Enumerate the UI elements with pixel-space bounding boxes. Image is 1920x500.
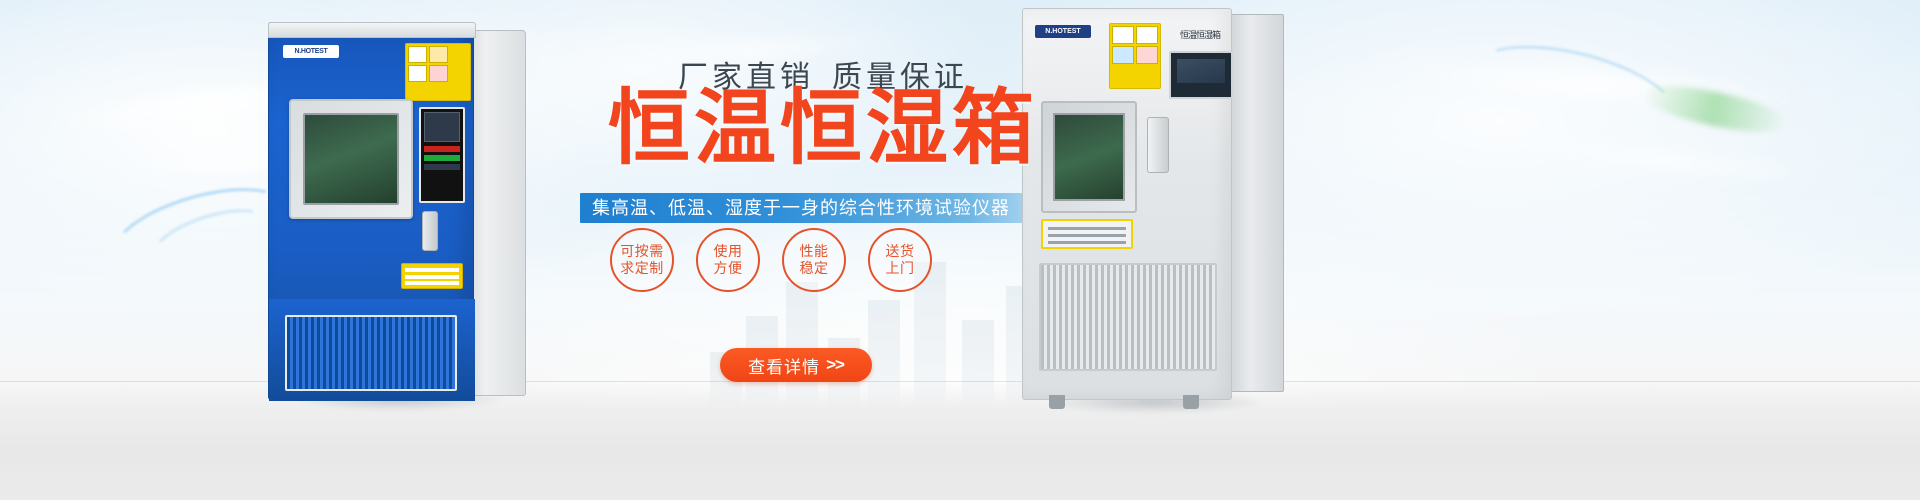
view-details-label: 查看详情 — [748, 353, 820, 378]
controller-screen — [1169, 51, 1233, 99]
promo-banner: N.HOTEST — [0, 0, 1920, 500]
feature-circle-list: 可按需 求定制 使用 方便 性能 稳定 送货 上门 — [610, 228, 932, 292]
feature-circle-2-line1: 使用 — [714, 243, 743, 260]
cabinet-top-cap — [268, 22, 476, 38]
warning-icon — [429, 65, 448, 82]
feature-circle-3-line2: 稳定 — [800, 260, 829, 277]
product-model-label: 恒温恒湿箱 — [1169, 27, 1231, 43]
page-title: 恒温恒湿箱 — [608, 88, 1038, 170]
controller-screen — [424, 112, 460, 142]
warning-icon — [1136, 26, 1158, 44]
chevron-right-icon: >> — [826, 355, 844, 375]
door-handle — [422, 211, 438, 251]
controller-indicators — [424, 146, 460, 170]
door-handle — [1147, 117, 1169, 173]
warning-icon — [408, 65, 427, 82]
subtitle-bar: 集高温、低温、湿度于一身的综合性环境试验仪器 — [580, 193, 1022, 223]
warning-icon — [429, 46, 448, 63]
feature-circle-2-line2: 方便 — [714, 260, 743, 277]
brand-plate: N.HOTEST — [283, 45, 339, 58]
indicator-light — [424, 146, 460, 152]
feature-circle-3-line1: 性能 — [800, 243, 829, 260]
control-panel — [419, 107, 465, 203]
indicator-light — [424, 155, 460, 161]
view-details-button[interactable]: 查看详情 >> — [720, 348, 872, 382]
copy-block: 厂家直销质量保证 恒温恒湿箱 集高温、低温、湿度于一身的综合性环境试验仪器 可按… — [560, 0, 1120, 500]
cabinet-foot — [1183, 395, 1199, 409]
feature-circle-1[interactable]: 可按需 求定制 — [610, 228, 674, 292]
feature-circle-1-line1: 可按需 — [620, 243, 664, 260]
feature-circle-1-line2: 求定制 — [620, 260, 664, 277]
cabinet-front: N.HOTEST — [268, 22, 474, 400]
warning-sticker-panel — [405, 43, 471, 101]
warning-icon — [408, 46, 427, 63]
feature-circle-2[interactable]: 使用 方便 — [696, 228, 760, 292]
ventilation-grille — [285, 315, 457, 391]
spec-label-sticker — [401, 263, 463, 289]
door-viewing-window — [303, 113, 399, 205]
feature-circle-4[interactable]: 送货 上门 — [868, 228, 932, 292]
feature-circle-3[interactable]: 性能 稳定 — [782, 228, 846, 292]
feature-circle-4-line2: 上门 — [886, 260, 915, 277]
feature-circle-4-line1: 送货 — [886, 243, 915, 260]
product-image-left: N.HOTEST — [268, 22, 526, 400]
indicator-light — [424, 164, 460, 170]
warning-icon — [1136, 46, 1158, 64]
chamber-door — [289, 99, 413, 219]
